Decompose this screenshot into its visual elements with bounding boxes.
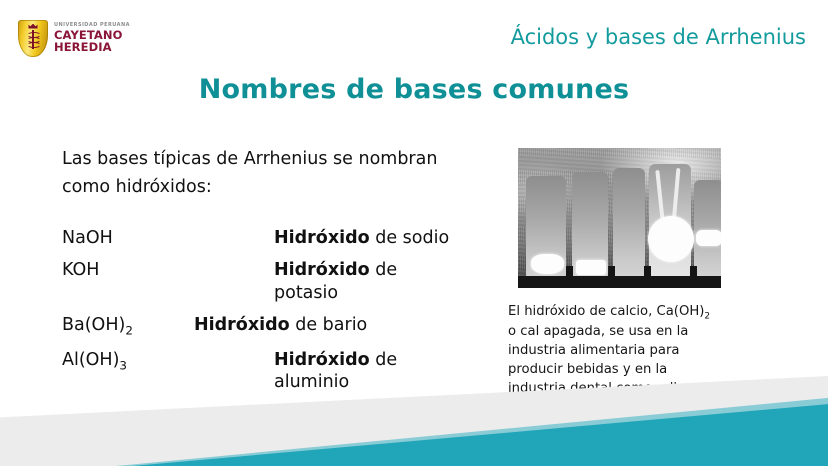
caption-line: industria alimentaria para: [508, 342, 758, 361]
name-cell: Hidróxido de aluminio: [194, 349, 462, 404]
formula-subscript: 2: [125, 324, 133, 338]
logo-name: CAYETANO HEREDIA: [54, 30, 163, 53]
slide-root: UNIVERSIDAD PERUANA CAYETANO HEREDIA Áci…: [0, 0, 828, 466]
intro-paragraph: Las bases típicas de Arrhenius se nombra…: [62, 145, 462, 201]
shield-icon: [18, 20, 48, 57]
formula-subscript: 3: [119, 358, 127, 372]
formula-text: KOH: [62, 260, 99, 280]
snake-icon: [27, 31, 39, 49]
formula-cell: NaOH: [62, 227, 194, 259]
content-left-column: Las bases típicas de Arrhenius se nombra…: [62, 145, 482, 404]
formula-cell: KOH: [62, 259, 194, 314]
formula-text: Al(OH): [62, 350, 119, 370]
page-title: Nombres de bases comunes: [0, 74, 828, 105]
table-row: NaOH Hidróxido de sodio: [62, 227, 462, 259]
university-logo: UNIVERSIDAD PERUANA CAYETANO HEREDIA: [18, 19, 163, 57]
caption-line: El hidróxido de calcio, Ca(OH)2: [508, 303, 758, 323]
formula-cell: Al(OH)3: [62, 349, 194, 404]
table-row: Al(OH)3 Hidróxido de aluminio: [62, 349, 462, 404]
name-bold: Hidróxido: [274, 260, 370, 280]
name-rest: de sodio: [370, 228, 450, 248]
name-cell: Hidróxido de bario: [194, 314, 462, 349]
caption-subscript: 2: [704, 312, 710, 322]
running-header-title: Ácidos y bases de Arrhenius: [511, 25, 806, 49]
caption-line: o cal apagada, se usa en la: [508, 323, 758, 342]
dental-xray-image: [518, 148, 721, 288]
name-bold: Hidróxido: [274, 350, 370, 370]
bases-table: NaOH Hidróxido de sodio KOH Hidróxido de…: [62, 227, 462, 404]
name-cell: Hidróxido de potasio: [194, 259, 462, 314]
name-bold: Hidróxido: [194, 315, 290, 335]
caption-line: producir bebidas y en la: [508, 361, 758, 380]
name-bold: Hidróxido: [274, 228, 370, 248]
formula-text: NaOH: [62, 228, 113, 248]
formula-text: Ba(OH): [62, 315, 125, 335]
name-rest: de bario: [290, 315, 368, 335]
table-row: KOH Hidróxido de potasio: [62, 259, 462, 314]
name-cell: Hidróxido de sodio: [194, 227, 462, 259]
table-row: Ba(OH)2 Hidróxido de bario: [62, 314, 462, 349]
caption-line-text: El hidróxido de calcio, Ca(OH): [508, 304, 704, 319]
formula-cell: Ba(OH)2: [62, 314, 194, 349]
